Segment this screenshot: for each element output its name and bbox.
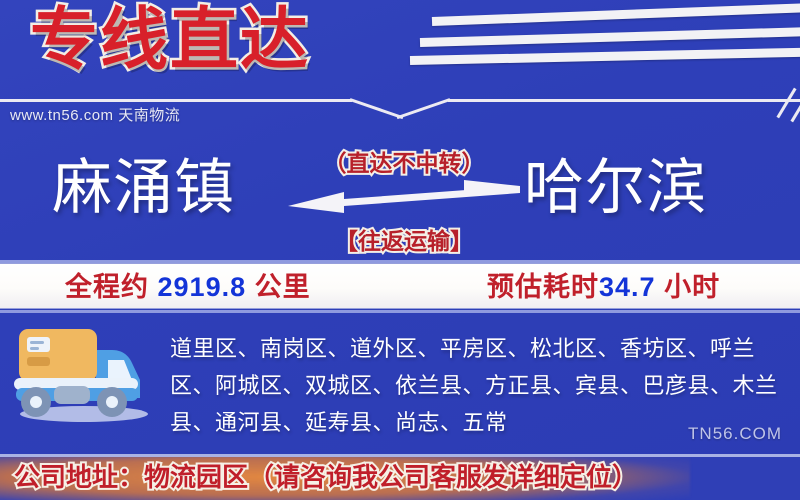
site-url-label: www.tn56.com 天南物流 [10,104,180,125]
duration-unit: 小时 [664,272,720,302]
divider-line-left [0,99,352,102]
distance-value: 2919.8 [158,272,247,302]
stats-band: 全程约 2919.8 公里 预估耗时34.7 小时 [0,264,800,308]
logistics-route-banner: 专线直达 www.tn56.com 天南物流 麻涌镇 （直达不中转） 【往返运输… [0,0,800,500]
speed-stripe-icon [420,26,800,47]
speed-stripe-icon [432,2,800,26]
speed-stripe-icon [410,47,800,65]
chevron-stroke-right [397,98,451,119]
direct-service-badge: （直达不中转） [288,144,520,178]
hero-section: 专线直达 [0,0,800,100]
bidirectional-arrow-icon [288,180,520,220]
route-section: 麻涌镇 （直达不中转） 【往返运输】 哈尔滨 [0,140,800,260]
total-distance-stat: 全程约 2919.8 公里 [65,268,311,306]
company-address-band: 公司地址：物流园区（请咨询我公司客服发详细定位） [0,454,800,500]
distance-unit: 公里 [255,272,311,302]
chevron-down-icon [352,96,448,122]
chevron-stroke-left [350,98,404,119]
company-address-label: 公司地址：物流园区（请咨询我公司客服发详细定位） [14,458,638,496]
divider-line-right [448,99,800,102]
distance-label: 全程约 [65,272,149,302]
brand-watermark: TN56.COM [688,424,782,444]
route-middle-group: （直达不中转） 【往返运输】 [288,140,520,260]
duration-value: 34.7 [599,272,656,302]
roundtrip-badge: 【往返运输】 [288,222,520,256]
estimated-duration-stat: 预估耗时34.7 小时 [487,268,720,306]
hero-title: 专线直达 [30,2,310,78]
band-edge-bottom [0,310,800,313]
origin-city-label: 麻涌镇 [52,154,235,222]
duration-label: 预估耗时 [487,272,599,302]
destination-city-label: 哈尔滨 [524,154,707,222]
band-edge-top [0,260,800,263]
address-band-topline [0,454,800,457]
delivery-truck-icon [8,318,158,428]
